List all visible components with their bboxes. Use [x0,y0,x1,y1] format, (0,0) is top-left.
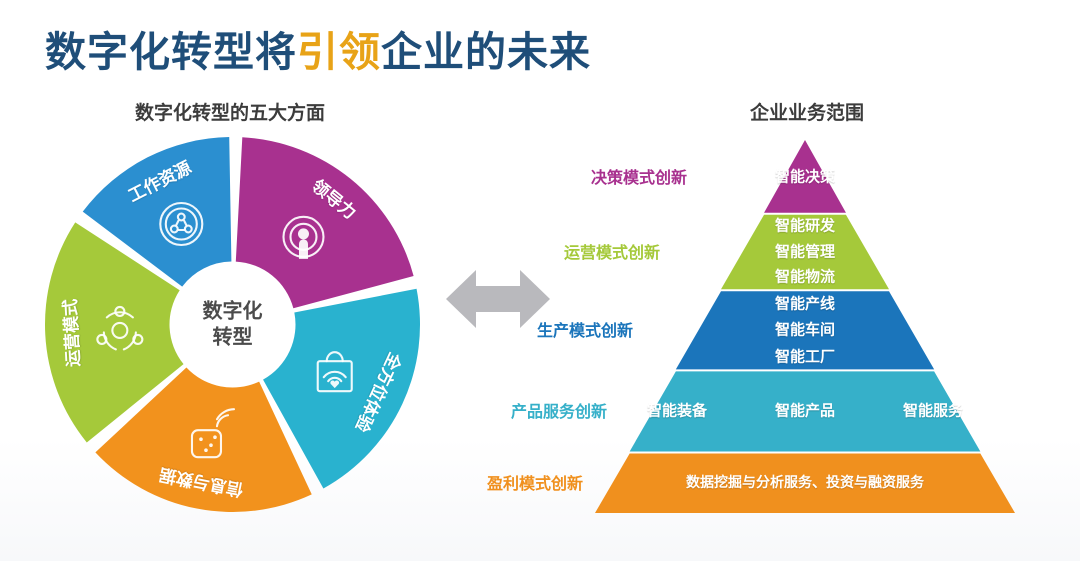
pyramid-side-label: 盈利模式创新 [487,470,583,494]
pyramid-tier-item: 智能服务 [903,400,963,421]
page-title-part1: 数字化转型将 [45,29,297,75]
pyramid-tier-item: 智能产线 [775,292,835,313]
pyramid-side-label: 生产模式创新 [537,317,633,341]
pyramid-tier-item: 智能研发 [775,215,835,236]
digital-transformation-donut: 领导力全方位体验信息与数据运营模式工作资源 数字化 转型 [45,137,420,512]
page-title-part2: 企业的未来 [381,29,591,75]
hub-line-1: 数字化 [203,298,263,324]
donut-segment-label: 运营模式 [56,298,85,367]
pyramid-tier-item: 智能决策 [775,166,835,187]
page-title-accent: 引领 [297,29,381,75]
pyramid-tier-item: 智能产品 [775,400,835,421]
pyramid-side-label: 决策模式创新 [591,164,687,188]
enterprise-business-scope-pyramid: 智能决策智能研发智能管理智能物流智能产线智能车间智能工厂智能装备智能产品智能服务… [455,130,1055,530]
pyramid-tier-item: 智能车间 [775,319,835,340]
left-panel-subtitle: 数字化转型的五大方面 [135,98,325,125]
pyramid-tier-item: 数据挖掘与分析服务、投资与融资服务 [686,472,924,492]
pyramid-tier-item: 智能管理 [775,240,835,261]
broadcast-person-icon [283,217,323,259]
donut-hub-label: 数字化 转型 [203,298,263,351]
pyramid-tier-item: 智能物流 [775,266,835,287]
right-panel-subtitle: 企业业务范围 [750,98,864,125]
pyramid-tier-item: 智能工厂 [775,346,835,367]
hub-line-2: 转型 [203,325,263,351]
pyramid-side-label: 产品服务创新 [511,398,607,422]
pyramid-tier-item: 智能装备 [647,400,707,421]
infographic-canvas: 数字化转型将引领企业的未来 数字化转型的五大方面 企业业务范围 [0,0,1080,561]
page-title: 数字化转型将引领企业的未来 [45,18,591,78]
pyramid-side-label: 运营模式创新 [564,239,660,263]
